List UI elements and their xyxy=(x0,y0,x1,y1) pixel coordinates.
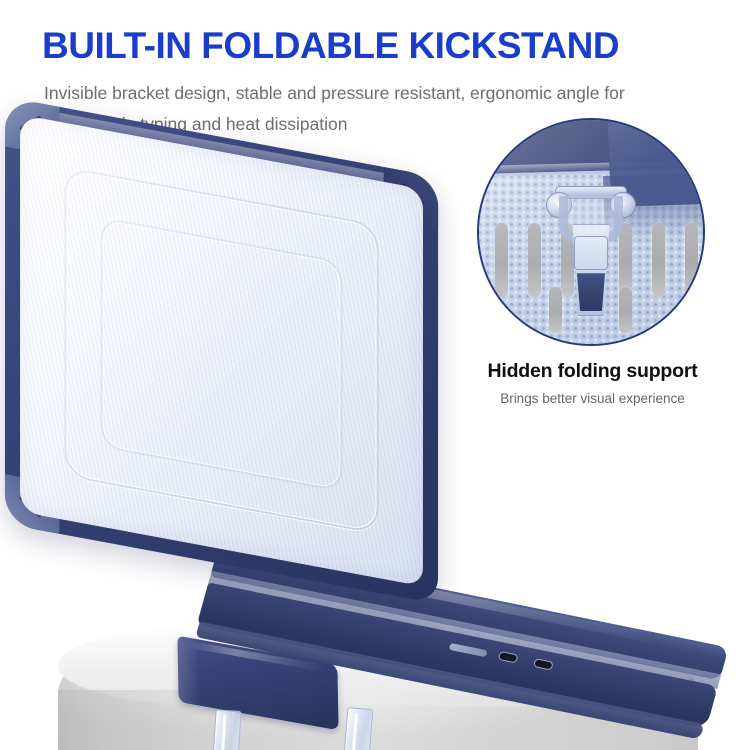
usb-c-port-icon xyxy=(533,658,554,670)
kickstand-leg-left xyxy=(210,709,241,750)
kickstand-pad xyxy=(574,236,608,270)
vent-slot xyxy=(528,223,541,297)
frosted-back-panel xyxy=(20,114,423,586)
vent-slot xyxy=(495,223,508,297)
case-lid xyxy=(5,97,438,604)
callout-circle-frame xyxy=(477,118,705,346)
vent-slot xyxy=(685,223,698,297)
callout-kickstand xyxy=(547,178,635,318)
kickstand-foot xyxy=(575,273,607,311)
heat-vent-slot xyxy=(449,643,488,657)
vent-slot xyxy=(652,223,665,297)
callout-caption-subtitle: Brings better visual experience xyxy=(455,391,730,406)
product-feature-image: BUILT-IN FOLDABLE KICKSTAND Invisible br… xyxy=(0,0,750,750)
callout-caption-title: Hidden folding support xyxy=(455,360,730,383)
usb-c-port-icon xyxy=(498,651,519,663)
feature-callout xyxy=(477,118,705,346)
page-title: BUILT-IN FOLDABLE KICKSTAND xyxy=(42,27,702,66)
kickstand-leg-shaft xyxy=(342,707,373,750)
kickstand-leg-shaft xyxy=(212,709,242,750)
